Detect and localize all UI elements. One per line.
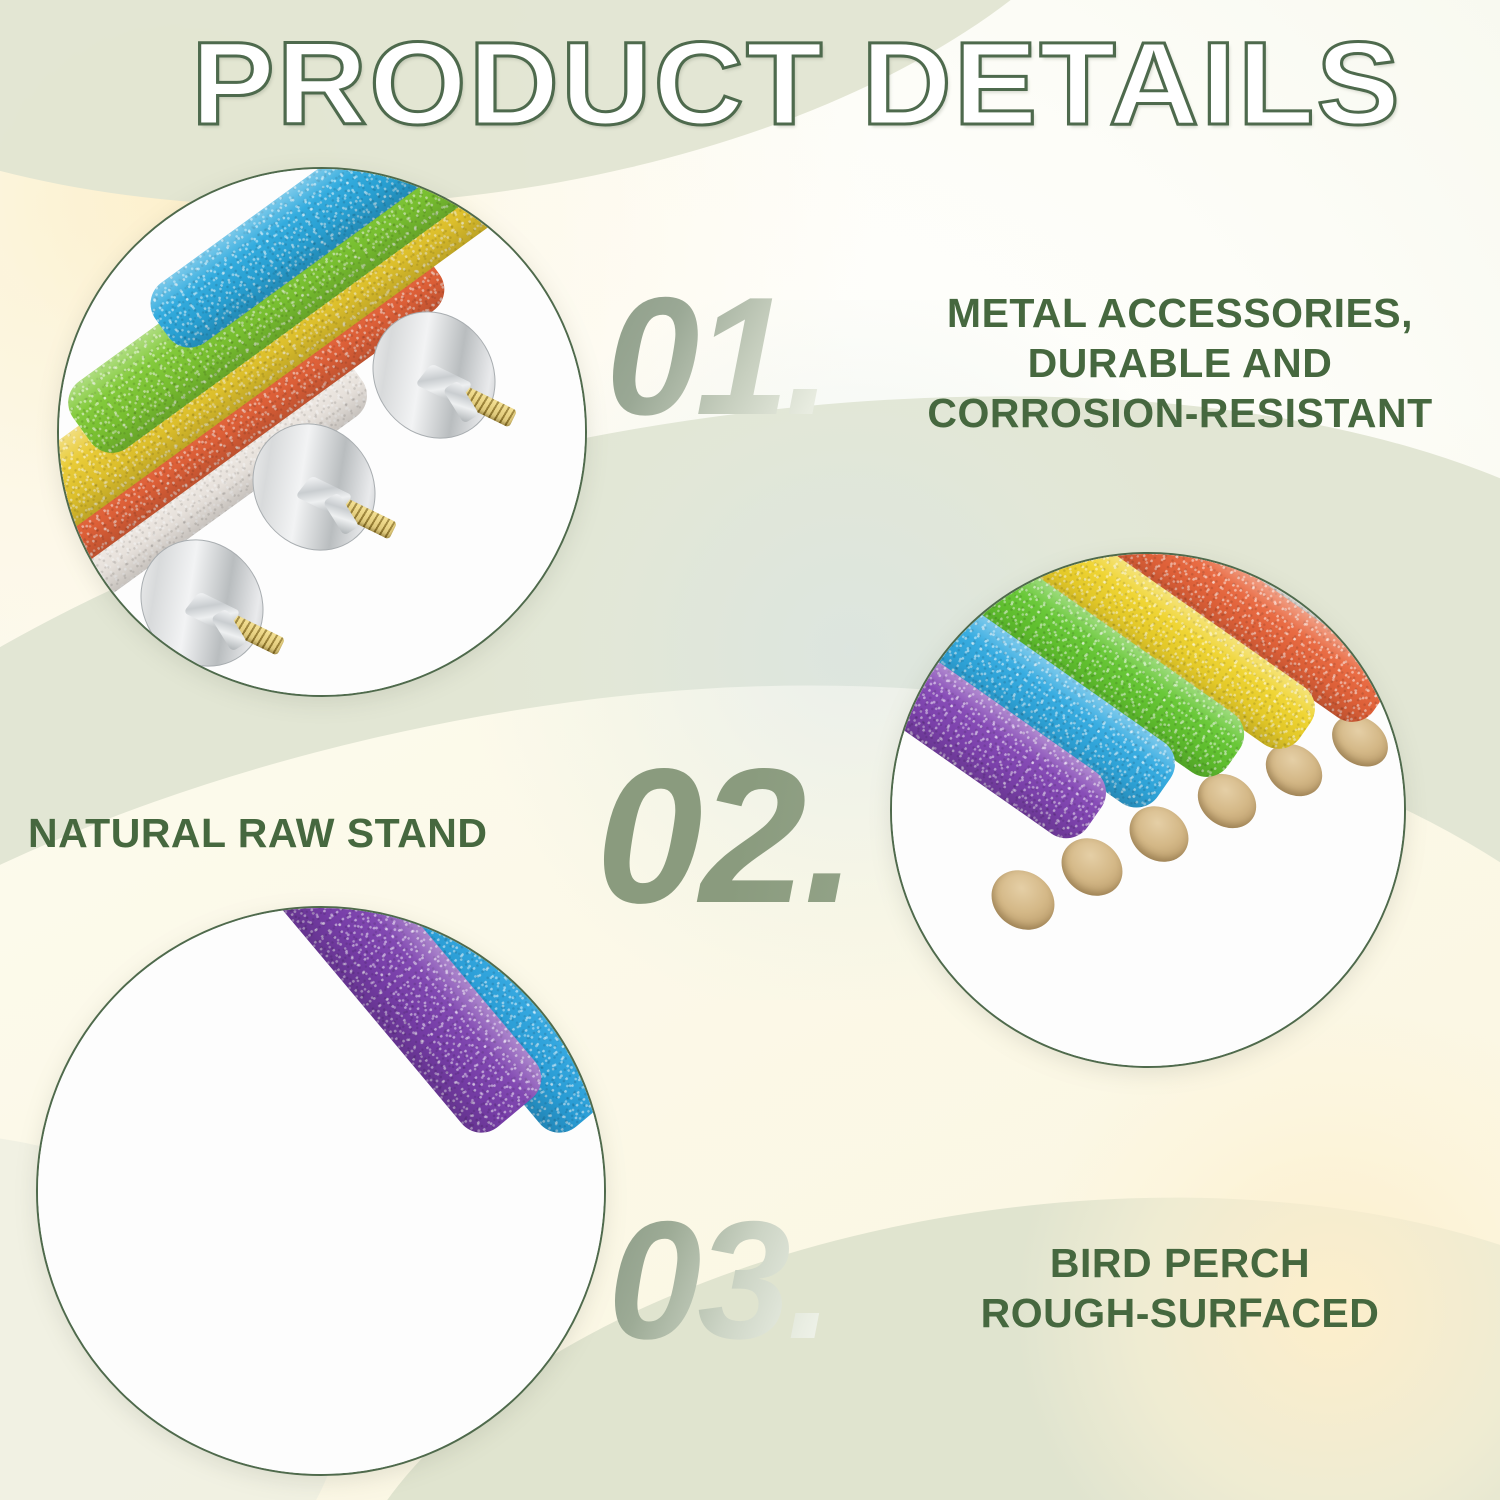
feature-number-02: 02. (596, 740, 854, 932)
metal-accessories-photo (57, 167, 587, 697)
feature-label-02: NATURAL RAW STAND (28, 808, 568, 858)
photo-content-3 (38, 908, 604, 1474)
feature-label-02-line-1: NATURAL RAW STAND (28, 808, 568, 858)
infographic-canvas: PRODUCT DETAILS (0, 0, 1500, 1500)
feature-label-03-line-1: BIRD PERCH (930, 1238, 1430, 1288)
photo-content-2 (892, 554, 1404, 1066)
feature-label-01-line-2: DURABLE AND (880, 338, 1480, 388)
feature-number-01: 01. (606, 272, 828, 440)
page-title: PRODUCT DETAILS (150, 24, 1443, 144)
photo-content-1 (59, 169, 585, 695)
feature-number-03: 03. (608, 1196, 830, 1364)
feature-label-03-line-2: ROUGH-SURFACED (930, 1288, 1430, 1338)
feature-label-03: BIRD PERCH ROUGH-SURFACED (930, 1238, 1430, 1338)
rough-surface-photo (36, 906, 606, 1476)
natural-raw-stand-photo (890, 552, 1406, 1068)
feature-label-01-line-3: CORROSION-RESISTANT (880, 388, 1480, 438)
feature-label-01-line-1: METAL ACCESSORIES, (880, 288, 1480, 338)
feature-label-01: METAL ACCESSORIES, DURABLE AND CORROSION… (880, 288, 1480, 438)
